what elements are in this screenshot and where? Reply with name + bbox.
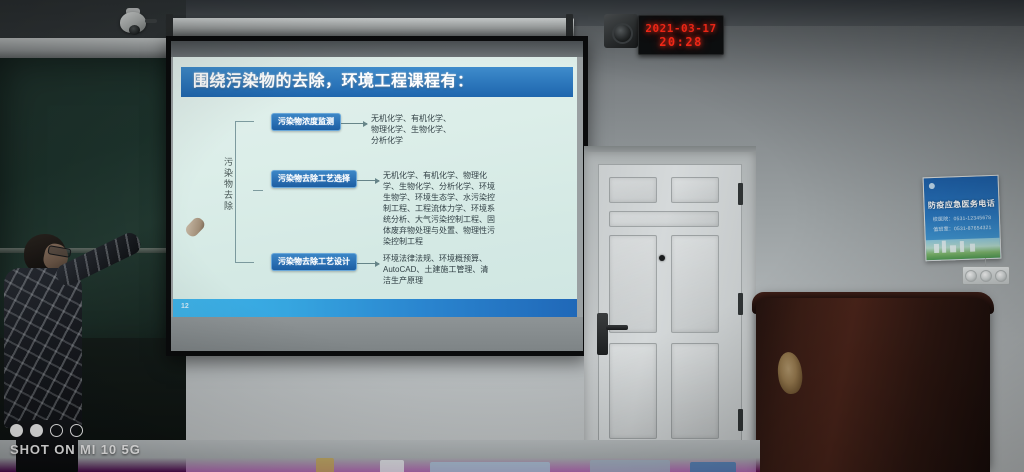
- watermark-dot-icon: [50, 424, 63, 437]
- watermark-dots: [10, 424, 190, 437]
- watermark-dot-icon: [70, 424, 83, 437]
- sign-building-icon: [960, 241, 964, 252]
- door-handle[interactable]: [597, 313, 608, 355]
- led-date: 2021-03-17: [645, 22, 716, 35]
- slide-root-label: 污染物去除: [217, 157, 233, 212]
- branch-1-label: 污染物浓度监测: [271, 113, 341, 131]
- clock-camera-icon: [604, 14, 638, 48]
- presenter-plaid-shirt: [4, 268, 82, 428]
- sign-building-icon: [942, 241, 946, 253]
- branch-2-arrow-icon: [357, 180, 379, 181]
- branch-3-label: 污染物去除工艺设计: [271, 253, 357, 271]
- outlet-socket-icon[interactable]: [965, 270, 977, 282]
- slide-branch-2: 污染物去除工艺选择 无机化学、有机化学、物理化学、生物化学、分析化学、环境生物学…: [271, 170, 501, 247]
- sign-skyline-graphic: [926, 238, 1001, 261]
- outlet-socket-icon[interactable]: [995, 270, 1007, 282]
- desk-object: [590, 460, 670, 472]
- led-clock-unit: 2021-03-17 20:28: [604, 12, 722, 56]
- led-display: 2021-03-17 20:28: [638, 15, 724, 55]
- door-panel: [609, 235, 657, 333]
- slide-branch-1: 污染物浓度监测 无机化学、有机化学、物理化学、生物化学、分析化学: [271, 113, 457, 146]
- branch-1-description: 无机化学、有机化学、物理化学、生物化学、分析化学: [371, 113, 457, 146]
- door-panel: [609, 177, 657, 203]
- projection-surface: 围绕污染物的去除，环境工程课程有： 污染物去除 污染物浓度监测 无机化学、有机化…: [171, 41, 583, 351]
- slide-title-bar: 围绕污染物的去除，环境工程课程有：: [181, 67, 573, 97]
- blackboard-top-rail: [0, 38, 190, 60]
- classroom-door[interactable]: [598, 164, 742, 454]
- slide-bracket-stem: [253, 190, 263, 191]
- camera-arm: [145, 19, 157, 23]
- door-hinge: [738, 293, 743, 315]
- branch-3-arrow-icon: [357, 263, 379, 264]
- projection-screen: 围绕污染物的去除，环境工程课程有： 污染物去除 污染物浓度监测 无机化学、有机化…: [166, 36, 588, 356]
- door-panel: [671, 177, 719, 203]
- slide-footer-bar: 12: [173, 299, 577, 319]
- led-time: 20:28: [659, 35, 703, 49]
- classroom-photo: MITSUBISHI 围绕污染物的去除，环境工程课程有： 污染物去除 污染物浓度…: [0, 0, 1024, 472]
- camera-lens: [129, 25, 140, 35]
- desk-object: [690, 462, 736, 472]
- clock-camera-lens: [612, 23, 633, 44]
- slide-page-number: 12: [181, 303, 189, 310]
- door-lever[interactable]: [606, 325, 628, 330]
- screen-bottom-margin: [171, 317, 583, 351]
- door-peephole-icon: [659, 255, 665, 261]
- sign-line-1: 校医院：0531-12345678: [925, 214, 999, 224]
- sign-logo-icon: [929, 183, 935, 189]
- door-hinge: [738, 183, 743, 205]
- door-panel: [671, 235, 719, 333]
- wall-sign-emergency-phone: 防疫应急医务电话 校医院：0531-12345678 值班室：0531-8765…: [923, 175, 1002, 262]
- presentation-slide: 围绕污染物的去除，环境工程课程有： 污染物去除 污染物浓度监测 无机化学、有机化…: [173, 57, 577, 319]
- projector-screen-case: MITSUBISHI: [170, 18, 574, 38]
- desk-object: [380, 460, 404, 472]
- branch-1-arrow-icon: [341, 123, 367, 124]
- sign-line-2: 值班室：0531-87654321: [925, 224, 999, 234]
- door-panel: [609, 343, 657, 439]
- door-hinge: [738, 409, 743, 431]
- surveillance-camera-icon: [118, 8, 152, 34]
- sign-building-icon: [934, 244, 939, 253]
- branch-2-label: 污染物去除工艺选择: [271, 170, 357, 188]
- camera-body: [120, 12, 146, 33]
- wall-power-outlets[interactable]: [962, 266, 1010, 285]
- watermark-dot-icon: [30, 424, 43, 437]
- outlet-socket-icon[interactable]: [980, 270, 992, 282]
- camera-watermark: SHOT ON MI 10 5G: [10, 424, 190, 466]
- watermark-text: SHOT ON MI 10 5G: [10, 442, 190, 457]
- branch-2-description: 无机化学、有机化学、物理化学、生物化学、分析化学、环境生物学、环境生态学、水污染…: [383, 170, 501, 247]
- desk-object: [430, 462, 550, 472]
- slide-branch-3: 污染物去除工艺设计 环境法律法规、环境概预算、AutoCAD、土建施工管理、清洁…: [271, 253, 493, 286]
- sign-building-icon: [970, 244, 975, 252]
- door-panel: [671, 343, 719, 439]
- sign-building-icon: [950, 245, 956, 252]
- slide-bracket: [235, 121, 254, 263]
- sign-title: 防疫应急医务电话: [924, 198, 998, 212]
- desk-object: [316, 458, 334, 472]
- branch-3-description: 环境法律法规、环境概预算、AutoCAD、土建施工管理、清洁生产原理: [383, 253, 493, 286]
- watermark-dot-icon: [10, 424, 23, 437]
- slide-title: 围绕污染物的去除，环境工程课程有：: [181, 74, 474, 90]
- screen-top-margin: [171, 41, 583, 57]
- door-panel: [609, 211, 719, 227]
